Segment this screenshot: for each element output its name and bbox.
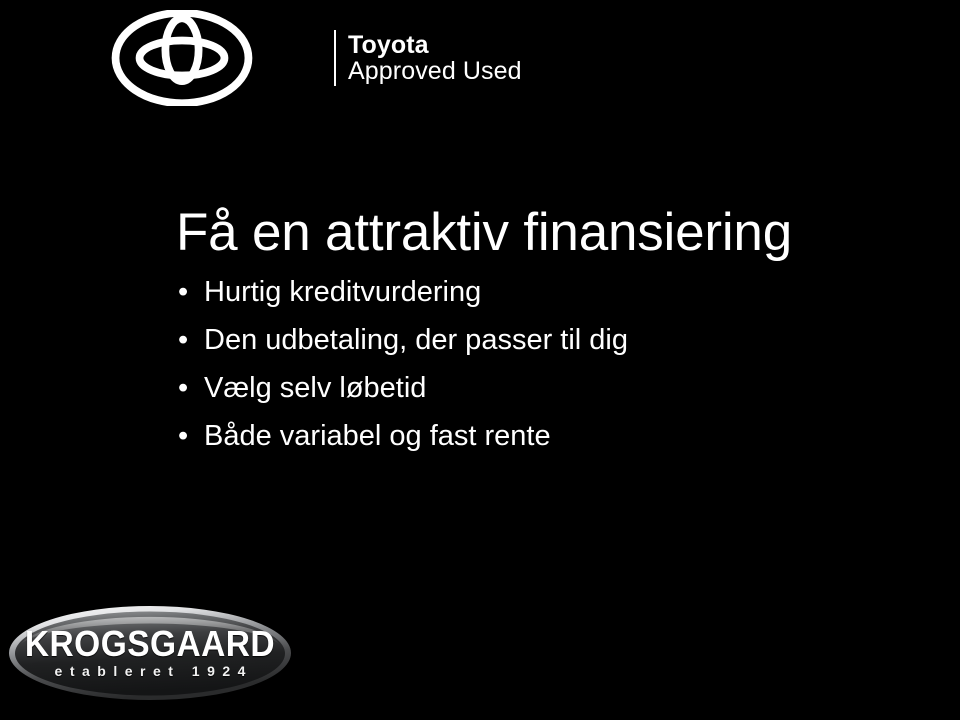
dealer-wordmark: KROGSGAARD xyxy=(18,623,282,665)
toyota-emblem-icon xyxy=(40,10,324,106)
list-item: • Både variabel og fast rente xyxy=(176,412,876,460)
brand-name: Toyota xyxy=(348,32,522,58)
bullet-icon: • xyxy=(178,364,188,412)
krogsgaard-dealer-logo: KROGSGAARD etableret 1924 xyxy=(8,605,292,701)
page-title: Få en attraktiv finansiering xyxy=(176,204,876,262)
list-item-label: Vælg selv løbetid xyxy=(204,372,426,404)
vertical-divider-icon xyxy=(334,30,336,86)
dealer-tagline: etableret 1924 xyxy=(8,663,292,679)
presentation-slide: Toyota Approved Used Få en attraktiv fin… xyxy=(0,0,960,720)
list-item-label: Hurtig kreditvurdering xyxy=(204,276,481,308)
bullet-icon: • xyxy=(178,316,188,364)
list-item: • Den udbetaling, der passer til dig xyxy=(176,316,876,364)
brand-program: Approved Used xyxy=(348,58,522,84)
list-item-label: Både variabel og fast rente xyxy=(204,420,551,452)
benefits-list: • Hurtig kreditvurdering • Den udbetalin… xyxy=(176,268,876,460)
bullet-icon: • xyxy=(178,412,188,460)
list-item: • Vælg selv løbetid xyxy=(176,364,876,412)
toyota-brand-text: Toyota Approved Used xyxy=(348,32,522,84)
slide-content: Få en attraktiv finansiering • Hurtig kr… xyxy=(176,204,876,460)
list-item-label: Den udbetaling, der passer til dig xyxy=(204,324,628,356)
bullet-icon: • xyxy=(178,268,188,316)
toyota-brand-lockup: Toyota Approved Used xyxy=(40,26,522,90)
list-item: • Hurtig kreditvurdering xyxy=(176,268,876,316)
